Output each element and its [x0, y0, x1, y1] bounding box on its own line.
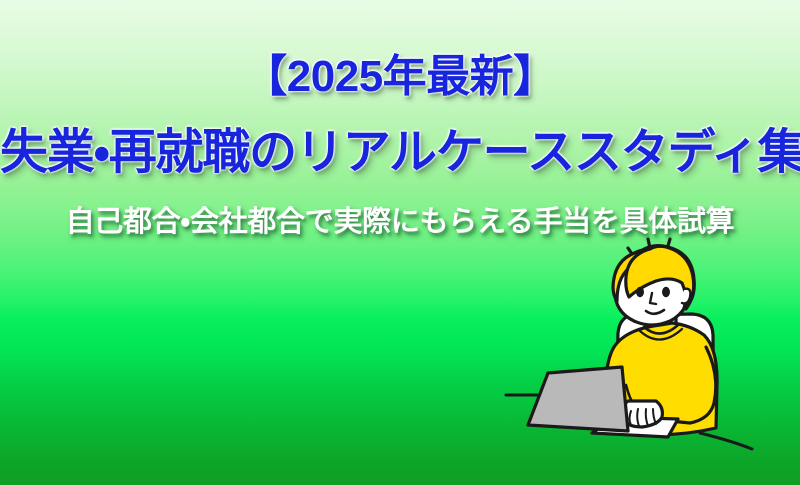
illustration-svg	[500, 235, 800, 485]
badge-title: 【2025年最新】	[0, 52, 800, 103]
page-subtitle: 自己都合・会社都合で実際にもらえる手当を具体試算	[0, 204, 800, 240]
eye-right	[662, 287, 670, 297]
laptop-screen	[528, 367, 628, 431]
page-title: 失業・再就職のリアルケーススタディ集	[0, 124, 800, 182]
desk-line-right	[700, 433, 752, 449]
eye-left	[636, 287, 644, 297]
person-typing-on-laptop-illustration	[500, 235, 800, 485]
eyecatch-canvas: 【2025年最新】 失業・再就職のリアルケーススタディ集 自己都合・会社都合で実…	[0, 0, 800, 485]
